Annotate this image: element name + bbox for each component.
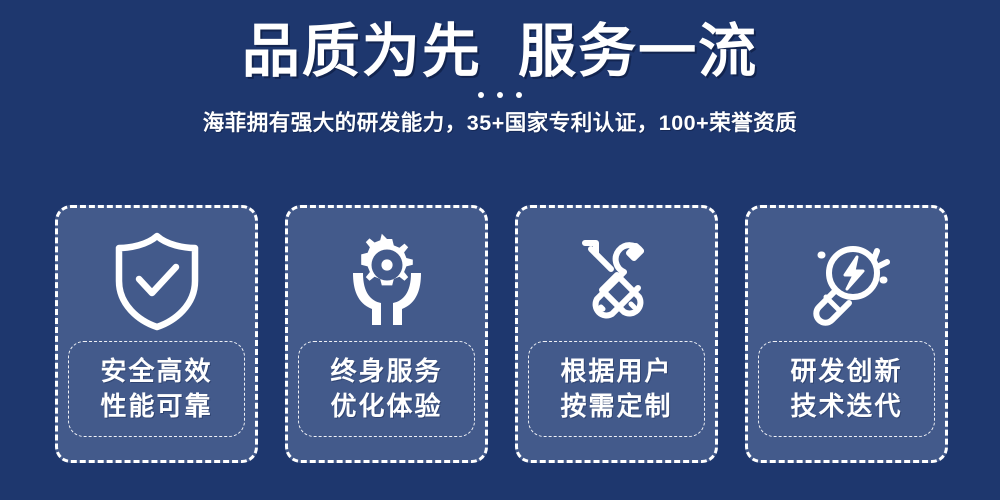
label-line-2: 性能可靠 <box>100 390 212 423</box>
label-line-2: 优化体验 <box>330 390 442 423</box>
feature-card-list: 安全高效 性能可靠 终身服务 优化体验 <box>55 205 948 463</box>
feature-card-custom[interactable]: 根据用户 按需定制 <box>515 205 718 463</box>
feature-card-label: 安全高效 性能可靠 <box>68 341 245 437</box>
feature-card-label: 研发创新 技术迭代 <box>758 341 935 437</box>
label-line-1: 根据用户 <box>560 355 672 388</box>
label-line-2: 技术迭代 <box>790 390 902 423</box>
label-line-2: 按需定制 <box>560 390 672 423</box>
page-title: 品质为先 服务一流 <box>0 22 1000 83</box>
feature-card-label: 根据用户 按需定制 <box>528 341 705 437</box>
page-subtitle: 海菲拥有强大的研发能力，35+国家专利认证，100+荣誉资质 <box>0 106 1000 137</box>
lightbulb-idea-icon <box>795 225 899 337</box>
screwdriver-wrench-icon <box>567 225 667 337</box>
label-line-1: 研发创新 <box>790 355 902 388</box>
feature-card-innovation[interactable]: 研发创新 技术迭代 <box>745 205 948 463</box>
title-dots-divider <box>0 92 1000 98</box>
label-line-1: 终身服务 <box>330 355 442 388</box>
gear-hands-icon <box>337 225 437 337</box>
feature-card-service[interactable]: 终身服务 优化体验 <box>285 205 488 463</box>
feature-card-safety[interactable]: 安全高效 性能可靠 <box>55 205 258 463</box>
dot-3 <box>516 92 522 98</box>
shield-check-icon <box>109 225 205 337</box>
dot-2 <box>497 92 503 98</box>
dot-1 <box>478 92 484 98</box>
banner-header: 品质为先 服务一流 海菲拥有强大的研发能力，35+国家专利认证，100+荣誉资质 <box>0 0 1000 137</box>
label-line-1: 安全高效 <box>100 355 212 388</box>
feature-card-label: 终身服务 优化体验 <box>298 341 475 437</box>
